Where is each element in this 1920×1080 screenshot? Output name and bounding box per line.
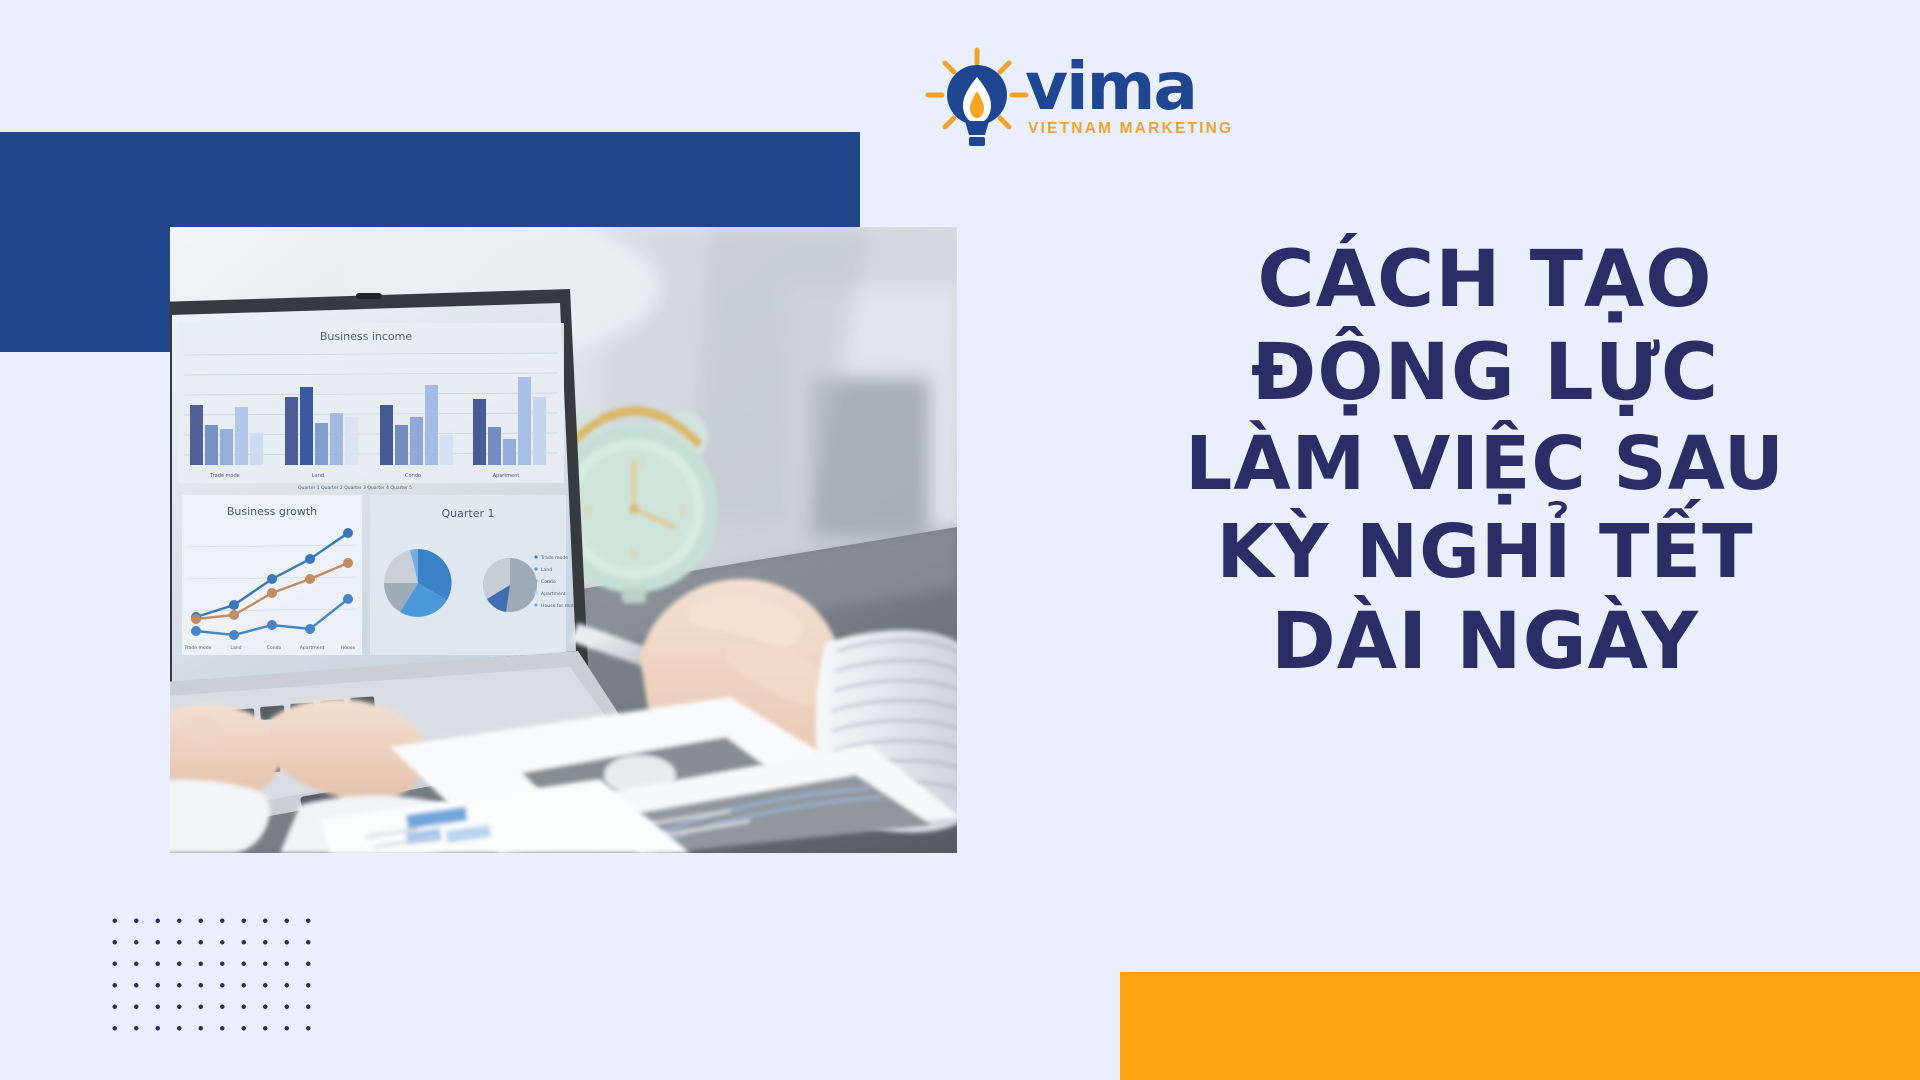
headline-line-4: KỲ NGHỈ TẾT bbox=[1060, 508, 1910, 596]
headline-line-5: DÀI NGÀY bbox=[1060, 596, 1910, 689]
logo-tagline: VIETNAM MARKETING bbox=[1028, 120, 1233, 138]
headline-line-2: ĐỘNG LỰC bbox=[1060, 327, 1910, 420]
headline-line-1: CÁCH TẠO bbox=[1060, 234, 1910, 327]
vima-logo: vima VIETNAM MARKETING bbox=[925, 44, 1245, 154]
hero-photo-illustration: 123 69 Business income bbox=[170, 227, 957, 853]
hero-photo: 123 69 Business income bbox=[170, 227, 957, 853]
headline-line-3: LÀM VIỆC SAU bbox=[1060, 420, 1910, 508]
dot-pattern-decoration bbox=[104, 910, 314, 1035]
page-title: CÁCH TẠO ĐỘNG LỰC LÀM VIỆC SAU KỲ NGHỈ T… bbox=[1060, 234, 1910, 689]
logo-wordmark: vima bbox=[1025, 60, 1233, 114]
orange-accent-block bbox=[1120, 972, 1920, 1080]
lightbulb-icon bbox=[925, 47, 1029, 151]
